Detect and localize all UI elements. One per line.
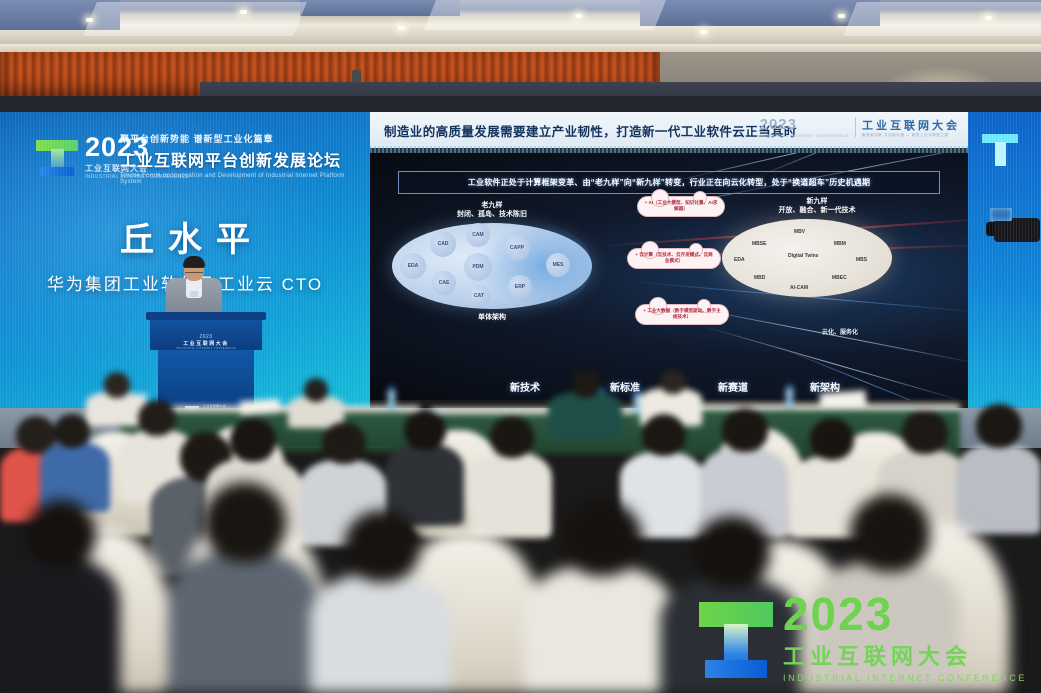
new-item-label: MBSE [752,241,766,247]
conference-t-mark-icon [982,134,1018,166]
new-item-label: MBD [754,275,765,281]
old-item-bubble: ERP [508,275,532,299]
keynote-speaker [166,258,222,320]
old-group-label: 老九样 封闭、孤岛、技术陈旧 [422,201,562,220]
cloud-plus: + [645,200,648,205]
new-item-label: AI-CAM [790,285,808,291]
old-item-bubble: CAT [468,285,490,307]
logo-year: 2023 [85,134,189,161]
old-item-bubble: MES [546,253,570,277]
slide-logo-year-sub: INDUSTRIAL INTERNET CONFERENCE [760,133,849,138]
conference-photo: 2023 工业互联网大会 INDUSTRIAL INTERNET CONFERE… [0,0,1041,693]
old-item-bubble: CAE [432,271,456,295]
new-item-label: MBM [834,241,846,247]
slide-header: 制造业的高质量发展需要建立产业韧性，打造新一代工业软件云正当其时 2023 IN… [370,112,970,148]
new-group-title: 新九样 [752,197,882,206]
slide-banner: 工业软件正处于计算框架变革、由“老九样”向“新九样”转变，行业正在向云化转型，处… [398,171,940,194]
forum-heading: 聚平台创新势能 谱新型工业化篇章 工业互联网平台创新发展论坛 Theme For… [120,132,360,185]
water-bottle [786,388,793,408]
cloud-text: 云计算（云技术、云开发模式、云商业模式） [639,252,713,263]
new-item-label: MBEC [832,275,847,281]
slide-logo-cn-sub: 聚焦新动能 共创新价值 — 新型工业化转型之路 [862,133,960,138]
logo-cn: 工业互联网大会 [85,163,189,174]
broadcast-camera [986,210,1041,244]
document-sheet [240,399,281,416]
old-item-bubble: EDA [400,253,426,279]
slide-logo-year: 2023 [760,116,797,133]
ceiling-speaker [352,70,361,82]
new-group-label: 新九样 开放、融合、新一代技术 [752,197,882,216]
old-item-bubble: CAPP [504,235,530,261]
audience-member [0,500,120,693]
conference-watermark: 2023 工业互联网大会 INDUSTRIAL INTERNET CONFERE… [699,593,1027,683]
slide-logo-divider [855,117,856,137]
slide-logo-cn: 工业互联网大会 [862,120,960,132]
cloud-plus: + [635,252,638,257]
conference-t-mark-icon [36,138,78,176]
old-item-bubble: PDM [464,253,492,281]
logo-en: INDUSTRIAL INTERNET CONFERENCE [85,174,189,180]
cloud-plus: + [643,308,646,313]
conference-t-mark-icon [699,598,773,678]
forum-title: 工业互联网平台创新发展论坛 [120,147,360,171]
slide-header-strip [370,146,970,153]
cloud-callout-bigdata: + 工业大数据（数字模型驱动、数字主线技术） [636,305,728,324]
cloud-callout-cloud: + 云计算（云技术、云开发模式、云商业模式） [628,249,720,268]
cloud-text: 工业大数据（数字模型驱动、数字主线技术） [647,308,721,319]
new-architecture-label: 云化、服务化 [822,327,858,336]
water-bottle [388,390,395,410]
audience-member [524,500,674,693]
slide-header-logo: 2023 INDUSTRIAL INTERNET CONFERENCE 工业互联… [760,116,960,138]
audience-member [548,370,622,436]
old-item-bubble: CAD [430,231,456,257]
presentation-slide: 制造业的高质量发展需要建立产业韧性，打造新一代工业软件云正当其时 2023 IN… [370,112,970,400]
podium-cn: 工业互联网大会 [150,340,262,347]
watermark-cn: 工业互联网大会 [783,639,1027,671]
forum-en-title: Theme Forum on Innovation and Developmen… [120,173,360,185]
new-group-subtitle: 开放、融合、新一代技术 [752,206,882,215]
speaker-name: 丘水平 [0,212,370,261]
audience-member [310,510,450,693]
old-group-subtitle: 封闭、孤岛、技术陈旧 [422,210,562,219]
new-item-label: Digital Twins [788,253,818,259]
watermark-year: 2023 [783,593,1027,637]
old-architecture-label: 单体架构 [442,313,542,322]
new-item-label: MBV [794,229,805,235]
cloud-callout-ai: + AI（工业大模型、知识计算、AI求解器） [638,197,724,216]
slide-body: 工业软件正处于计算框架变革、由“老九样”向“新九样”转变，行业正在向云化转型，处… [370,153,970,400]
old-item-bubble: CAM [466,223,490,247]
new-item-label: EDA [734,257,745,263]
cloud-text: AI（工业大模型、知识计算、AI求解器） [648,200,717,211]
forum-logo: 2023 工业互联网大会 INDUSTRIAL INTERNET CONFERE… [36,134,189,180]
forum-kicker: 聚平台创新势能 谱新型工业化篇章 [120,132,360,145]
slide-banner-text: 工业软件正处于计算框架变革、由“老九样”向“新九样”转变，行业正在向云化转型，处… [468,177,870,188]
slide-header-title: 制造业的高质量发展需要建立产业韧性，打造新一代工业软件云正当其时 [384,121,797,140]
watermark-en: INDUSTRIAL INTERNET CONFERENCE [783,673,1027,683]
old-group-title: 老九样 [422,201,562,210]
document-sheet [819,390,866,409]
new-item-label: MBS [856,257,867,263]
audience-member [168,482,318,693]
